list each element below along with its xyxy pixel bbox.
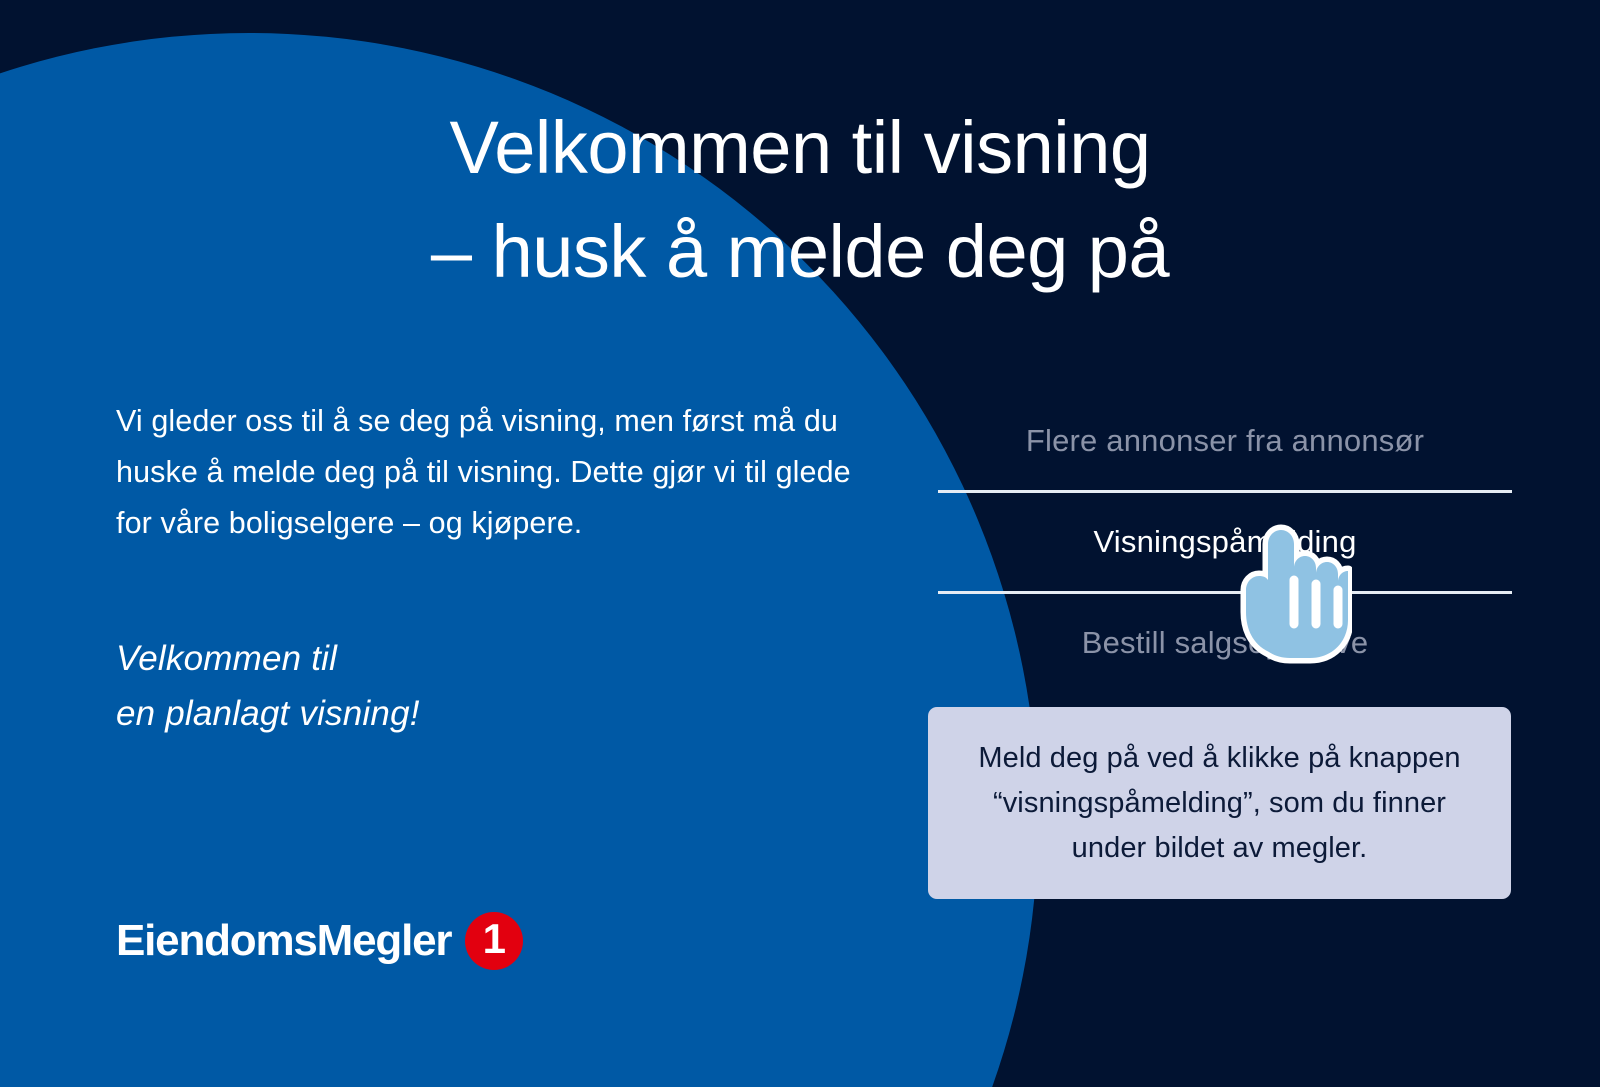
- listing-action-menu: Flere annonser fra annonsør Visningspåme…: [938, 392, 1512, 692]
- intro-paragraph: Vi gleder oss til å se deg på visning, m…: [116, 396, 876, 549]
- instruction-tooltip-text: Meld deg på ved å klikke på knappen “vis…: [928, 736, 1511, 871]
- welcome-callout: Velkommen til en planlagt visning!: [116, 631, 876, 741]
- brand-badge-icon: 1: [465, 912, 523, 970]
- menu-item-flere-annonser[interactable]: Flere annonser fra annonsør: [938, 392, 1512, 490]
- headline-line-2: – husk å melde deg på: [0, 200, 1600, 304]
- menu-item-bestill-salgsoppgave[interactable]: Bestill salgsoppgave: [938, 594, 1512, 692]
- slide-canvas: Velkommen til visning – husk å melde deg…: [0, 0, 1600, 1087]
- headline-line-1: Velkommen til visning: [449, 106, 1150, 189]
- left-content-column: Vi gleder oss til å se deg på visning, m…: [116, 396, 876, 741]
- brand-wordmark: EiendomsMegler: [116, 919, 451, 963]
- brand-logo: EiendomsMegler 1: [116, 912, 523, 970]
- page-title: Velkommen til visning – husk å melde deg…: [0, 96, 1600, 304]
- instruction-tooltip: Meld deg på ved å klikke på knappen “vis…: [928, 707, 1511, 899]
- welcome-callout-line-1: Velkommen til: [116, 631, 876, 686]
- menu-item-visningspamelding[interactable]: Visningspåmelding: [938, 493, 1512, 591]
- welcome-callout-line-2: en planlagt visning!: [116, 686, 876, 741]
